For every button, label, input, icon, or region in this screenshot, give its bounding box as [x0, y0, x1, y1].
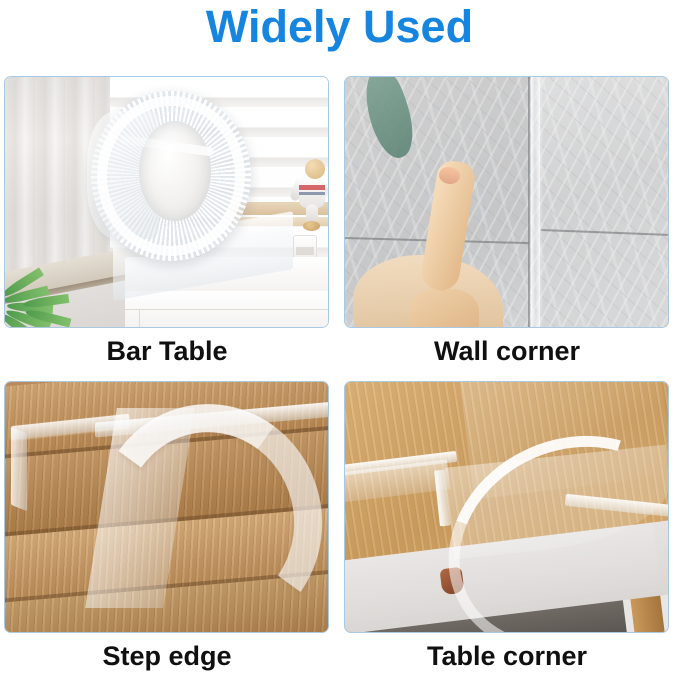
use-case-card-step-edge: Step edge: [4, 367, 336, 672]
use-case-card-bar-table: Bar Table: [4, 62, 336, 367]
use-case-card-table-corner: Table corner: [344, 367, 676, 672]
pointing-hand: [353, 169, 543, 327]
tape-strip-l-face: [11, 427, 27, 511]
photo-table-corner: [344, 381, 669, 633]
caption-wall-corner: Wall corner: [344, 334, 670, 368]
caption-table-corner: Table corner: [344, 639, 670, 673]
photo-step-edge: [4, 381, 329, 633]
caption-bar-table: Bar Table: [4, 334, 330, 368]
scene-wall-corner: [345, 77, 668, 327]
tape-roll: [91, 91, 251, 261]
scene-step-edge: [5, 382, 328, 632]
use-case-card-wall-corner: Wall corner: [344, 62, 676, 367]
photo-bar-table: [4, 76, 329, 328]
page-title: Widely Used: [0, 0, 679, 56]
use-case-grid: Bar Table: [0, 62, 679, 682]
widely-used-infographic: Widely Used: [0, 0, 679, 683]
caption-step-edge: Step edge: [4, 639, 330, 673]
scene-bar-table: [5, 77, 328, 327]
astronaut-figurine: [293, 159, 328, 231]
photo-wall-corner: [344, 76, 669, 328]
potted-plant: [5, 263, 87, 327]
scene-table-corner: [345, 382, 668, 632]
